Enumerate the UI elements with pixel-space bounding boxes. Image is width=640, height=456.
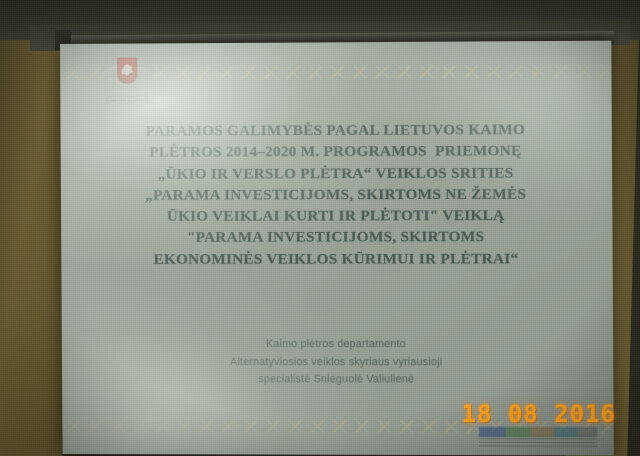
screen-vignette — [60, 41, 614, 456]
projection-screen: Lietuvos Respublikos Žemės ūkio minister… — [60, 41, 614, 456]
wall-left — [0, 0, 62, 456]
camera-timestamp: 18 08 2016 — [462, 400, 617, 428]
photograph: Lietuvos Respublikos Žemės ūkio minister… — [0, 0, 640, 456]
